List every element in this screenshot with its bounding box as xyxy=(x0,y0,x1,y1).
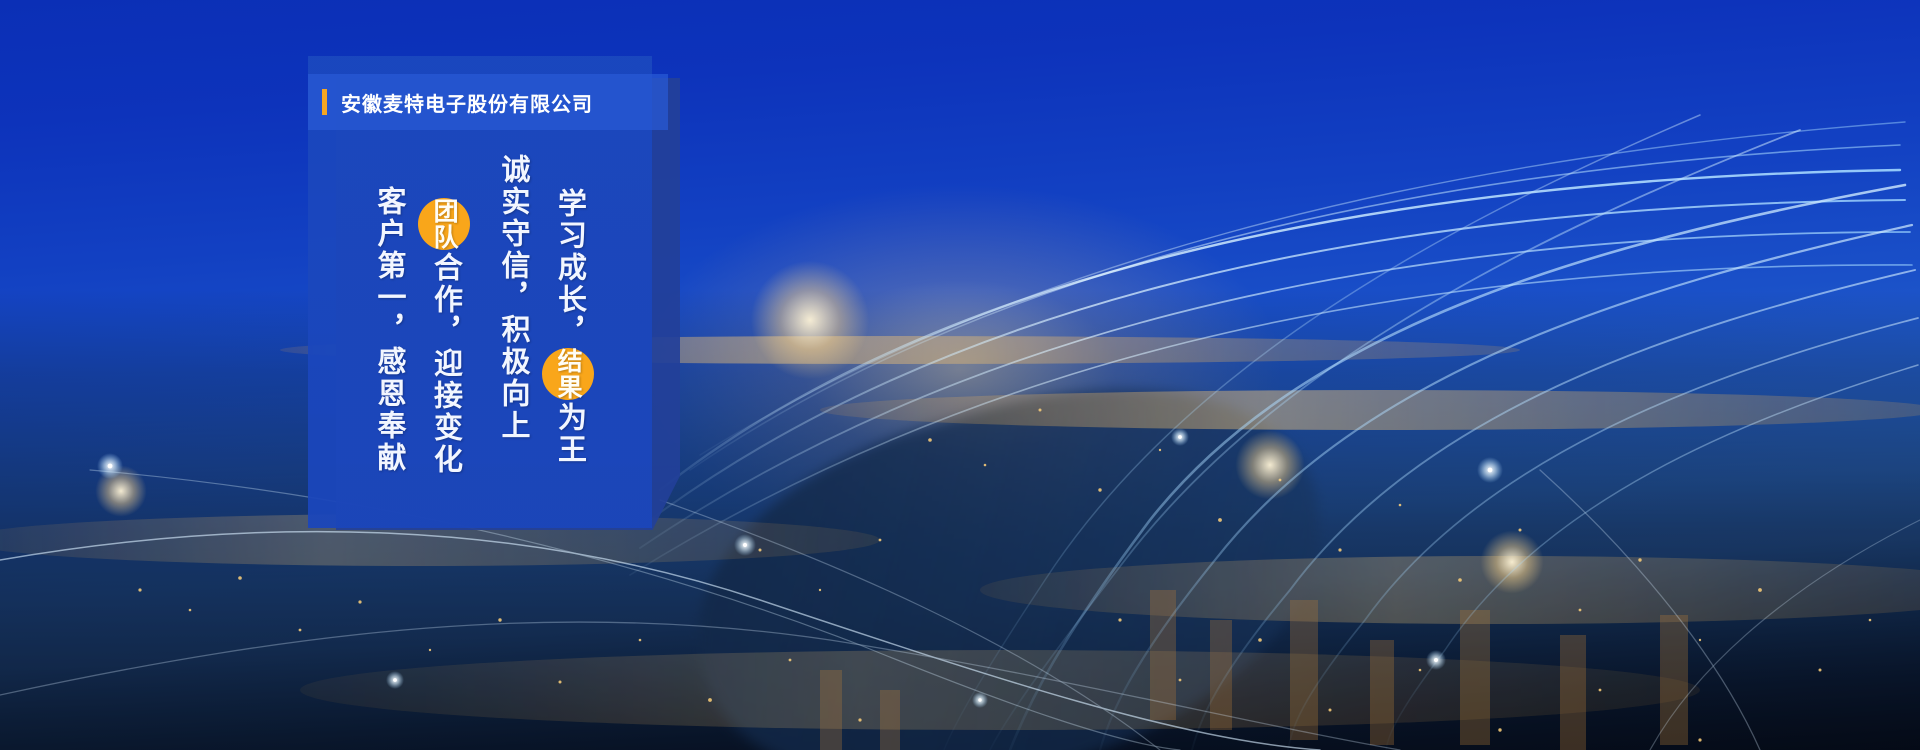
page-title: 安徽麦特电子股份有限公司 xyxy=(341,88,593,117)
city-glow-2 xyxy=(1235,430,1305,500)
slogan-teamwork-badge-label: 团队 xyxy=(431,198,457,250)
slogan-teamwork-post: 合作，迎接变化 xyxy=(427,252,464,476)
slogan-teamwork-badge: 团队 xyxy=(418,198,470,250)
slogan-customer-text: 客户第一，感恩奉献 xyxy=(371,186,408,474)
city-lights xyxy=(0,290,1920,750)
city-night-background xyxy=(0,290,1920,750)
company-culture-banner: 安徽麦特电子股份有限公司 学习成长，结果为王 诚实守信，积极向上 团队合作，迎接… xyxy=(0,0,1920,750)
slogan-column-customer: 客户第一，感恩奉献 xyxy=(366,186,408,474)
slogan-learning-badge: 结果 xyxy=(542,348,594,400)
slogan-integrity-text: 诚实守信，积极向上 xyxy=(495,154,532,442)
slogan-columns: 学习成长，结果为王 诚实守信，积极向上 团队合作，迎接变化 客户第一，感恩奉献 xyxy=(308,140,652,530)
accent-bar-icon xyxy=(322,89,327,115)
slogan-column-teamwork: 团队合作，迎接变化 xyxy=(428,198,470,476)
city-glow-4 xyxy=(95,465,147,517)
slogan-learning-badge-label: 结果 xyxy=(555,348,581,400)
city-glow-1 xyxy=(750,260,870,380)
card-header: 安徽麦特电子股份有限公司 xyxy=(308,74,668,130)
slogan-column-integrity: 诚实守信，积极向上 xyxy=(490,154,532,442)
slogan-learning-post: 为王 xyxy=(551,402,588,466)
slogan-learning-pre: 学习成长， xyxy=(551,188,588,348)
city-glow-3 xyxy=(1480,530,1544,594)
slogan-column-learning: 学习成长，结果为王 xyxy=(552,188,594,466)
